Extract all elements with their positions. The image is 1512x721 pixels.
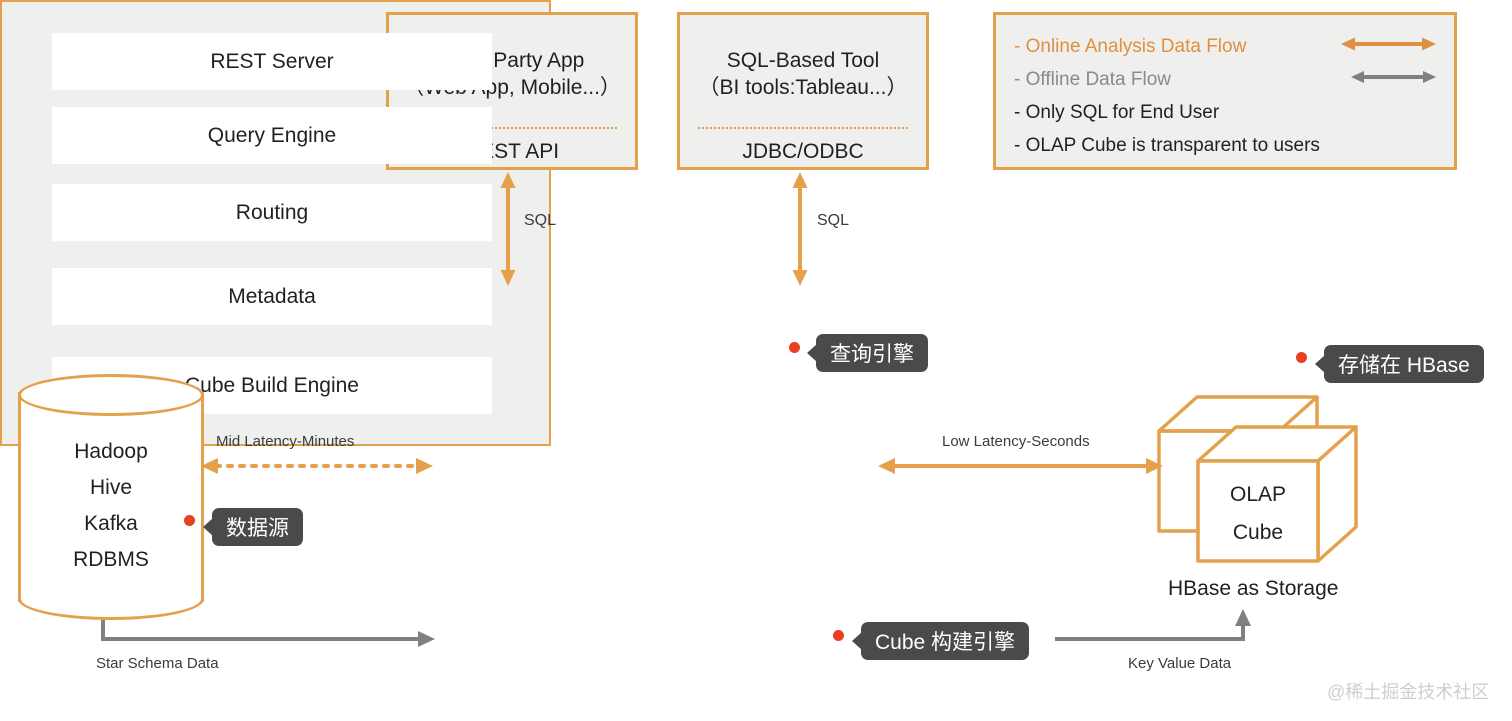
tooltip-query-engine: 查询引擎 — [816, 334, 928, 372]
key-value-arrow-icon — [1055, 609, 1251, 639]
data-source-hive: Hive — [18, 470, 204, 506]
mid-latency-label: Mid Latency-Minutes — [216, 433, 354, 450]
watermark: @稀土掘金技术社区 — [1327, 678, 1489, 704]
star-schema-arrow-icon — [103, 620, 435, 647]
dot-query-engine — [789, 342, 800, 353]
dot-data-source — [184, 515, 195, 526]
key-value-label: Key Value Data — [1128, 655, 1231, 672]
cylinder-top-ellipse — [18, 374, 204, 416]
dot-hbase-storage — [1296, 352, 1307, 363]
star-schema-label: Star Schema Data — [96, 655, 219, 672]
layer-rest-server[interactable]: REST Server — [52, 33, 492, 90]
data-source-cylinder: Hadoop Hive Kafka RDBMS — [18, 374, 204, 620]
olap-cube-icon: OLAP Cube — [1155, 383, 1390, 558]
tooltip-hbase-storage: 存储在 HBase — [1324, 345, 1484, 383]
sql-arrow-left-icon — [501, 172, 516, 286]
olap-cube-group: OLAP Cube — [1155, 383, 1390, 558]
olap-cube-line1: OLAP — [1230, 483, 1286, 506]
sql-label-left: SQL — [524, 212, 556, 230]
low-latency-label: Low Latency-Seconds — [942, 433, 1090, 450]
sql-arrow-right-icon — [793, 172, 808, 286]
data-source-labels: Hadoop Hive Kafka RDBMS — [18, 434, 204, 578]
data-source-kafka: Kafka — [18, 506, 204, 542]
sql-label-right: SQL — [817, 212, 849, 230]
mid-latency-arrow-icon — [201, 458, 433, 474]
data-source-hadoop: Hadoop — [18, 434, 204, 470]
hbase-storage-caption: HBase as Storage — [1168, 577, 1338, 601]
layer-query-engine[interactable]: Query Engine — [52, 107, 492, 164]
tooltip-cube-build-engine: Cube 构建引擎 — [861, 622, 1029, 660]
olap-cube-line2: Cube — [1233, 521, 1283, 544]
layer-metadata[interactable]: Metadata — [52, 268, 492, 325]
tooltip-data-source: 数据源 — [212, 508, 303, 546]
dot-cube-build-engine — [833, 630, 844, 641]
low-latency-arrow-icon — [878, 458, 1163, 474]
data-source-rdbms: RDBMS — [18, 542, 204, 578]
layer-routing[interactable]: Routing — [52, 184, 492, 241]
